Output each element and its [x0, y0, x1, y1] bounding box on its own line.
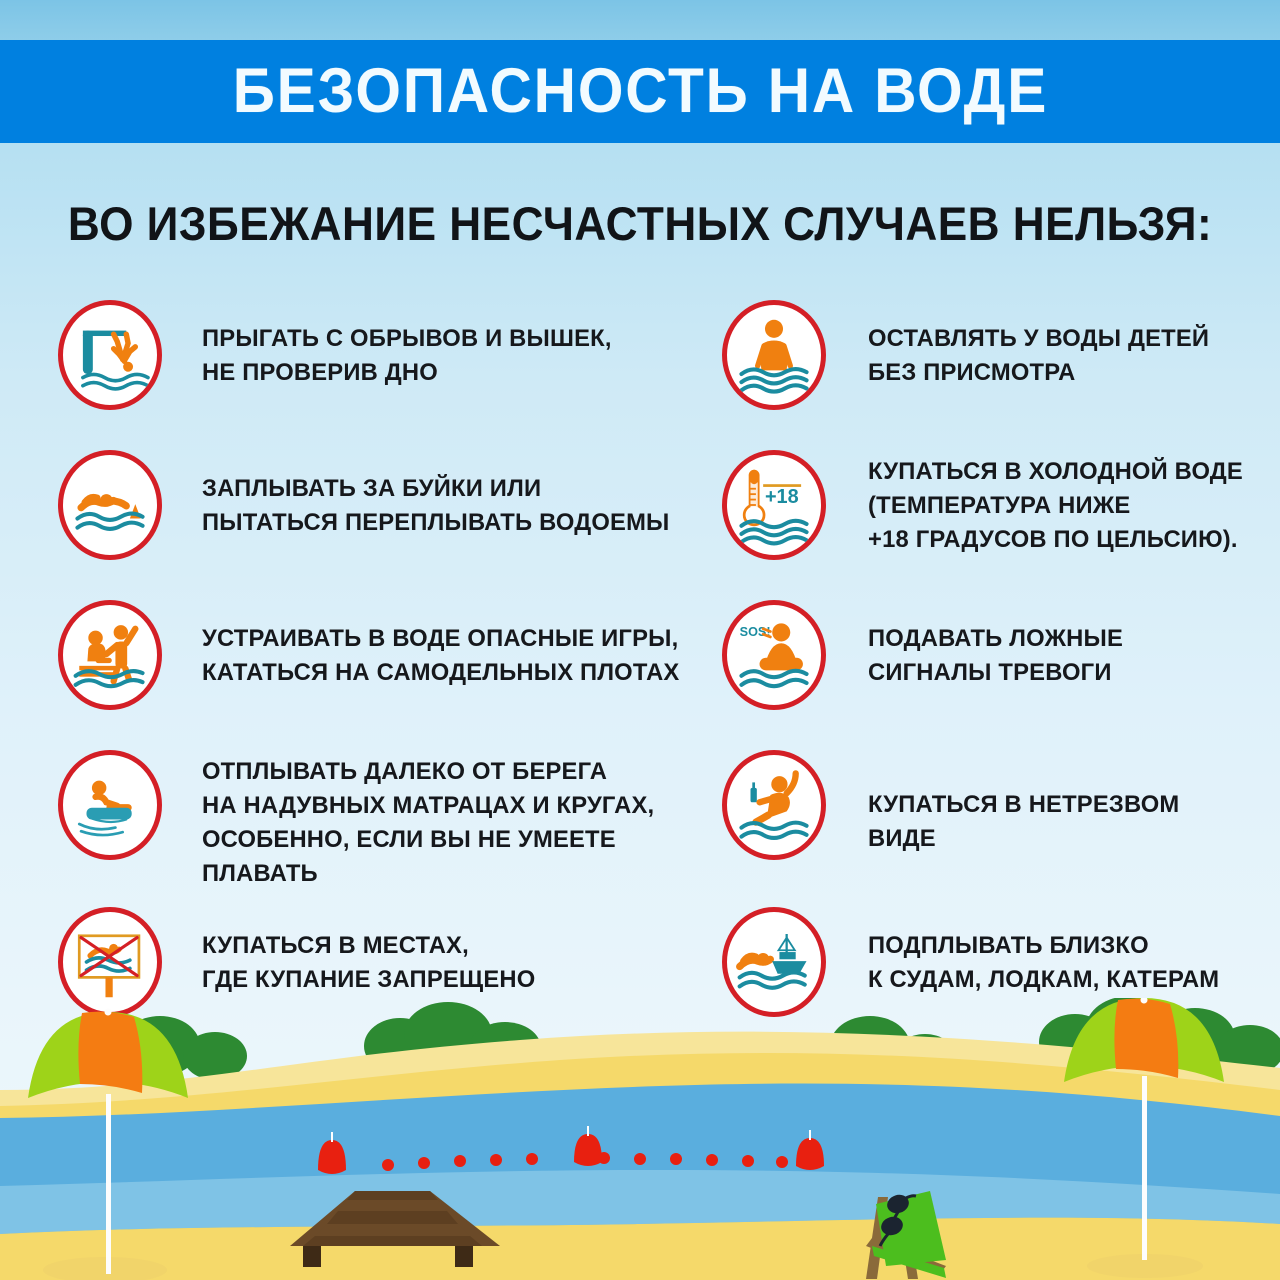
rule-item: ОТПЛЫВАТЬ ДАЛЕКО ОТ БЕРЕГА НА НАДУВНЫХ М…	[58, 750, 698, 891]
thermometer-value: +18	[765, 486, 799, 508]
unattended-child-icon	[722, 300, 826, 410]
rule-text: ПОДАВАТЬ ЛОЖНЫЕ СИГНАЛЫ ТРЕВОГИ	[868, 600, 1123, 690]
raft-games-icon	[58, 600, 162, 710]
false-sos-alarm-icon: SOS!	[722, 600, 826, 710]
poster-root: БЕЗОПАСНОСТЬ НА ВОДЕ ВО ИЗБЕЖАНИЕ НЕСЧАС…	[0, 0, 1280, 1280]
rule-item: ЗАПЛЫВАТЬ ЗА БУЙКИ ИЛИ ПЫТАТЬСЯ ПЕРЕПЛЫВ…	[58, 450, 684, 560]
diving-board-icon	[58, 300, 162, 410]
rule-text: ОСТАВЛЯТЬ У ВОДЫ ДЕТЕЙ БЕЗ ПРИСМОТРА	[868, 300, 1209, 390]
rule-text: КУПАТЬСЯ В МЕСТАХ, ГДЕ КУПАНИЕ ЗАПРЕЩЕНО	[202, 907, 535, 997]
rules-grid: ПРЫГАТЬ С ОБРЫВОВ И ВЫШЕК, НЕ ПРОВЕРИВ Д…	[0, 292, 1280, 1052]
rule-item: SOS! ПОДАВАТЬ ЛОЖНЫЕ СИГНАЛЫ ТРЕВОГИ	[722, 600, 1131, 710]
top-strip	[0, 0, 1280, 40]
drunk-swimming-icon	[722, 750, 826, 860]
rule-text: ПОДПЛЫВАТЬ БЛИЗКО К СУДАМ, ЛОДКАМ, КАТЕР…	[868, 907, 1219, 997]
rule-text: ЗАПЛЫВАТЬ ЗА БУЙКИ ИЛИ ПЫТАТЬСЯ ПЕРЕПЛЫВ…	[202, 450, 670, 540]
header-bar: БЕЗОПАСНОСТЬ НА ВОДЕ	[0, 40, 1280, 143]
rule-text: КУПАТЬСЯ В НЕТРЕЗВОМ ВИДЕ	[868, 750, 1250, 856]
beach-scene	[0, 998, 1280, 1280]
thermometer-cold-water-icon: +18	[722, 450, 826, 560]
rule-text: ПРЫГАТЬ С ОБРЫВОВ И ВЫШЕК, НЕ ПРОВЕРИВ Д…	[202, 300, 612, 390]
rule-item: ПРЫГАТЬ С ОБРЫВОВ И ВЫШЕК, НЕ ПРОВЕРИВ Д…	[58, 300, 624, 410]
page-title: БЕЗОПАСНОСТЬ НА ВОДЕ	[232, 60, 1047, 123]
sos-label: SOS!	[740, 625, 771, 639]
rule-text: КУПАТЬСЯ В ХОЛОДНОЙ ВОДЕ (ТЕМПЕРАТУРА НИ…	[868, 450, 1243, 557]
rule-text: ОТПЛЫВАТЬ ДАЛЕКО ОТ БЕРЕГА НА НАДУВНЫХ М…	[202, 750, 683, 891]
rule-item: КУПАТЬСЯ В НЕТРЕЗВОМ ВИДЕ	[722, 750, 1262, 860]
inflatable-mattress-icon	[58, 750, 162, 860]
rule-item: УСТРАИВАТЬ В ВОДЕ ОПАСНЫЕ ИГРЫ, КАТАТЬСЯ…	[58, 600, 694, 710]
subtitle: ВО ИЗБЕЖАНИЕ НЕСЧАСТНЫХ СЛУЧАЕВ НЕЛЬЗЯ:	[38, 196, 1241, 251]
rule-item: ОСТАВЛЯТЬ У ВОДЫ ДЕТЕЙ БЕЗ ПРИСМОТРА	[722, 300, 1220, 410]
rule-item: +18 КУПАТЬСЯ В ХОЛОДНОЙ ВОДЕ (ТЕМПЕРАТУР…	[722, 450, 1255, 560]
rule-text: УСТРАИВАТЬ В ВОДЕ ОПАСНЫЕ ИГРЫ, КАТАТЬСЯ…	[202, 600, 679, 690]
swim-past-buoys-icon	[58, 450, 162, 560]
